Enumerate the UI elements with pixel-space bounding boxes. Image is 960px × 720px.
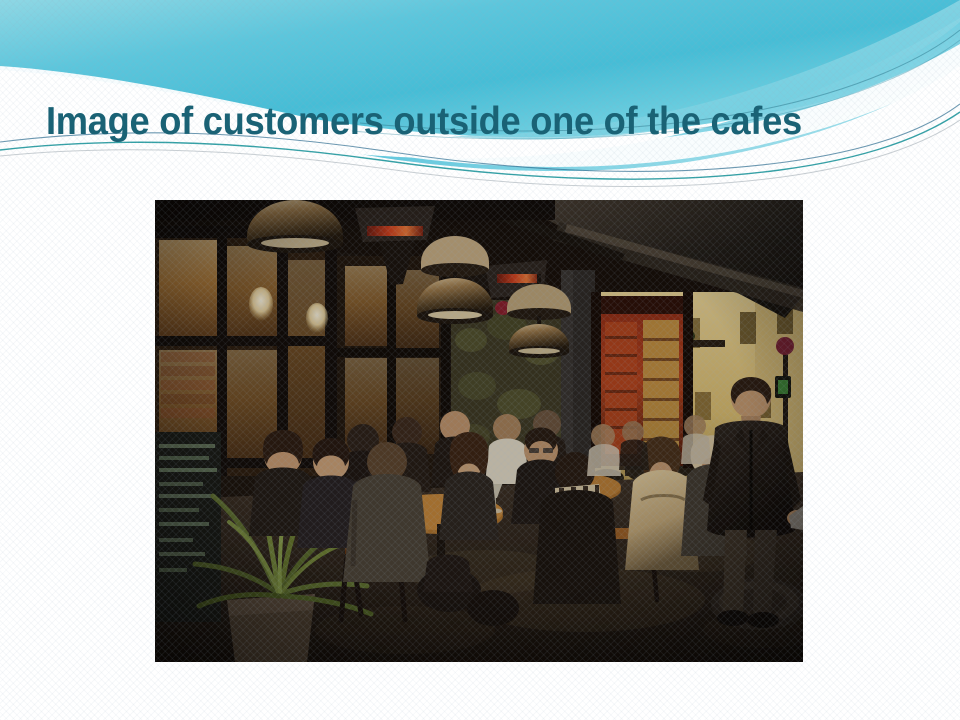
slide-title: Image of customers outside one of the ca… (46, 96, 837, 148)
cafe-terrace-night-photo (155, 200, 803, 662)
photo-vignette (155, 200, 803, 662)
presentation-slide: Image of customers outside one of the ca… (0, 0, 960, 720)
slide-photo (155, 200, 803, 662)
title-placeholder: Image of customers outside one of the ca… (46, 96, 896, 148)
